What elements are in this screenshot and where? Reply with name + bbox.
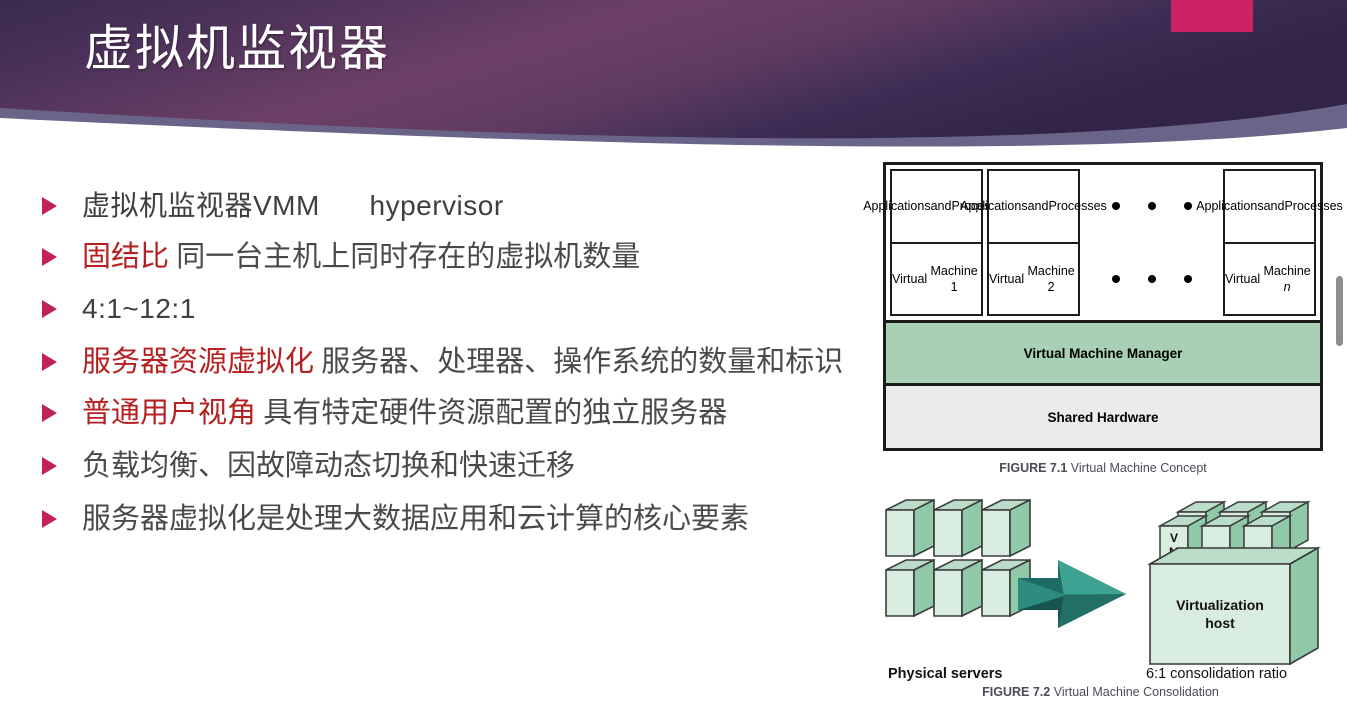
figure-7-2: V M Virtualization host xyxy=(878,498,1323,699)
bullet-highlight-2: 固结比 xyxy=(82,241,169,273)
triangle-bullet-icon xyxy=(42,248,57,266)
dot-icon xyxy=(1148,202,1156,210)
bullet-list: 虚拟机监视器VMM hypervisor 固结比 同一台主机上同时存在的虚拟机数… xyxy=(36,186,856,548)
ellipsis-region xyxy=(1080,169,1223,316)
physical-servers-label: Physical servers xyxy=(888,666,1002,682)
list-item: 负载均衡、因故障动态切换和快速迁移 xyxy=(36,446,856,487)
vertical-scrollbar[interactable] xyxy=(1336,0,1345,712)
vm-cell-1: VirtualMachine 1 xyxy=(892,244,981,315)
host-front-face xyxy=(1150,564,1290,664)
virtualization-host-group: V M Virtualization host xyxy=(1150,502,1318,664)
figure-7-1-caption-prefix: FIGURE 7.1 xyxy=(999,461,1067,475)
host-label-line2: host xyxy=(1205,615,1235,631)
apps-cell-n: ApplicationsandProcesses xyxy=(1225,171,1314,244)
bullet-text-5: 普通用户视角 具有特定硬件资源配置的独立服务器 xyxy=(82,393,856,434)
figure-7-1-caption: FIGURE 7.1 Virtual Machine Concept xyxy=(883,461,1323,475)
bullet-plain-6: 负载均衡、因故障动态切换和快速迁移 xyxy=(82,450,575,482)
dot-icon xyxy=(1148,275,1156,283)
bullet-highlight-4: 服务器资源虚拟化 xyxy=(82,346,314,378)
list-item: 普通用户视角 具有特定硬件资源配置的独立服务器 xyxy=(36,393,856,434)
vm-columns-row: ApplicationsandProcesses VirtualMachine … xyxy=(886,165,1320,320)
list-item: 固结比 同一台主机上同时存在的虚拟机数量 xyxy=(36,237,856,278)
physical-servers-group xyxy=(886,500,1030,616)
apps-cell-2: ApplicationsandProcesses xyxy=(989,171,1078,244)
pink-accent-rect xyxy=(1171,0,1253,32)
list-item: 服务器虚拟化是处理大数据应用和云计算的核心要素 xyxy=(36,499,856,540)
dot-icon xyxy=(1184,202,1192,210)
bullet-plain-4: 服务器、处理器、操作系统的数量和标识 xyxy=(314,346,843,378)
figure-7-1-caption-text: Virtual Machine Concept xyxy=(1071,461,1207,475)
dot-icon xyxy=(1112,275,1120,283)
vm-column-n: ApplicationsandProcesses VirtualMachine … xyxy=(1223,169,1316,316)
vm-cell-n: VirtualMachine n xyxy=(1225,244,1314,315)
triangle-bullet-icon xyxy=(42,197,57,215)
server-cube xyxy=(886,500,934,556)
triangle-bullet-icon xyxy=(42,404,57,422)
triangle-bullet-icon xyxy=(42,353,57,371)
dot-icon xyxy=(1112,202,1120,210)
slide-canvas: 虚拟机监视器 虚拟机监视器VMM hypervisor 固结比 同一台主机上同时… xyxy=(0,0,1347,712)
vm-column-1: ApplicationsandProcesses VirtualMachine … xyxy=(890,169,983,316)
bullet-plain-7: 服务器虚拟化是处理大数据应用和云计算的核心要素 xyxy=(82,503,749,535)
host-label-line1: Virtualization xyxy=(1176,597,1264,613)
bullet-plain-1: 虚拟机监视器VMM hypervisor xyxy=(82,190,504,221)
host-side-face xyxy=(1290,548,1318,664)
figure-7-2-caption-text: Virtual Machine Consolidation xyxy=(1054,685,1219,699)
figure-7-2-caption: FIGURE 7.2 Virtual Machine Consolidation xyxy=(878,685,1323,699)
bullet-plain-5: 具有特定硬件资源配置的独立服务器 xyxy=(256,397,727,429)
list-item: 虚拟机监视器VMM hypervisor xyxy=(36,186,856,226)
ellipsis-dots-bottom xyxy=(1080,243,1223,317)
list-item: 服务器资源虚拟化 服务器、处理器、操作系统的数量和标识 xyxy=(36,342,856,383)
bullet-highlight-5: 普通用户视角 xyxy=(82,397,256,429)
bullet-text-7: 服务器虚拟化是处理大数据应用和云计算的核心要素 xyxy=(82,499,856,540)
triangle-bullet-icon xyxy=(42,510,57,528)
server-cube xyxy=(934,500,982,556)
triangle-bullet-icon xyxy=(42,457,57,475)
page-title: 虚拟机监视器 xyxy=(84,22,390,76)
bullet-plain-3: 4:1~12:1 xyxy=(82,293,196,324)
consolidation-ratio-label: 6:1 consolidation ratio xyxy=(1146,666,1287,682)
server-cube xyxy=(934,560,982,616)
consolidation-arrow-icon xyxy=(1018,560,1126,628)
figure-7-2-caption-prefix: FIGURE 7.2 xyxy=(982,685,1050,699)
list-item: 4:1~12:1 xyxy=(36,289,856,329)
bullet-text-4: 服务器资源虚拟化 服务器、处理器、操作系统的数量和标识 xyxy=(82,342,856,383)
figure-7-2-graphic: V M Virtualization host xyxy=(878,498,1323,683)
scrollbar-thumb[interactable] xyxy=(1336,276,1343,346)
server-cube xyxy=(982,500,1030,556)
server-cube xyxy=(886,560,934,616)
bullet-text-6: 负载均衡、因故障动态切换和快速迁移 xyxy=(82,446,856,487)
bullet-text-1: 虚拟机监视器VMM hypervisor xyxy=(82,186,856,226)
vm-label-line1: V xyxy=(1170,531,1178,545)
virtual-machine-manager-band: Virtual Machine Manager xyxy=(886,320,1320,383)
vm-column-2: ApplicationsandProcesses VirtualMachine … xyxy=(987,169,1080,316)
figure-7-1-frame: ApplicationsandProcesses VirtualMachine … xyxy=(883,162,1323,451)
bullet-text-3: 4:1~12:1 xyxy=(82,289,856,329)
triangle-bullet-icon xyxy=(42,300,57,318)
figure-7-1: ApplicationsandProcesses VirtualMachine … xyxy=(883,162,1323,475)
vm-cell-2: VirtualMachine 2 xyxy=(989,244,1078,315)
bullet-text-2: 固结比 同一台主机上同时存在的虚拟机数量 xyxy=(82,237,856,278)
shared-hardware-band: Shared Hardware xyxy=(886,383,1320,448)
bullet-plain-2: 同一台主机上同时存在的虚拟机数量 xyxy=(169,241,640,273)
title-banner: 虚拟机监视器 xyxy=(0,0,1347,160)
dot-icon xyxy=(1184,275,1192,283)
